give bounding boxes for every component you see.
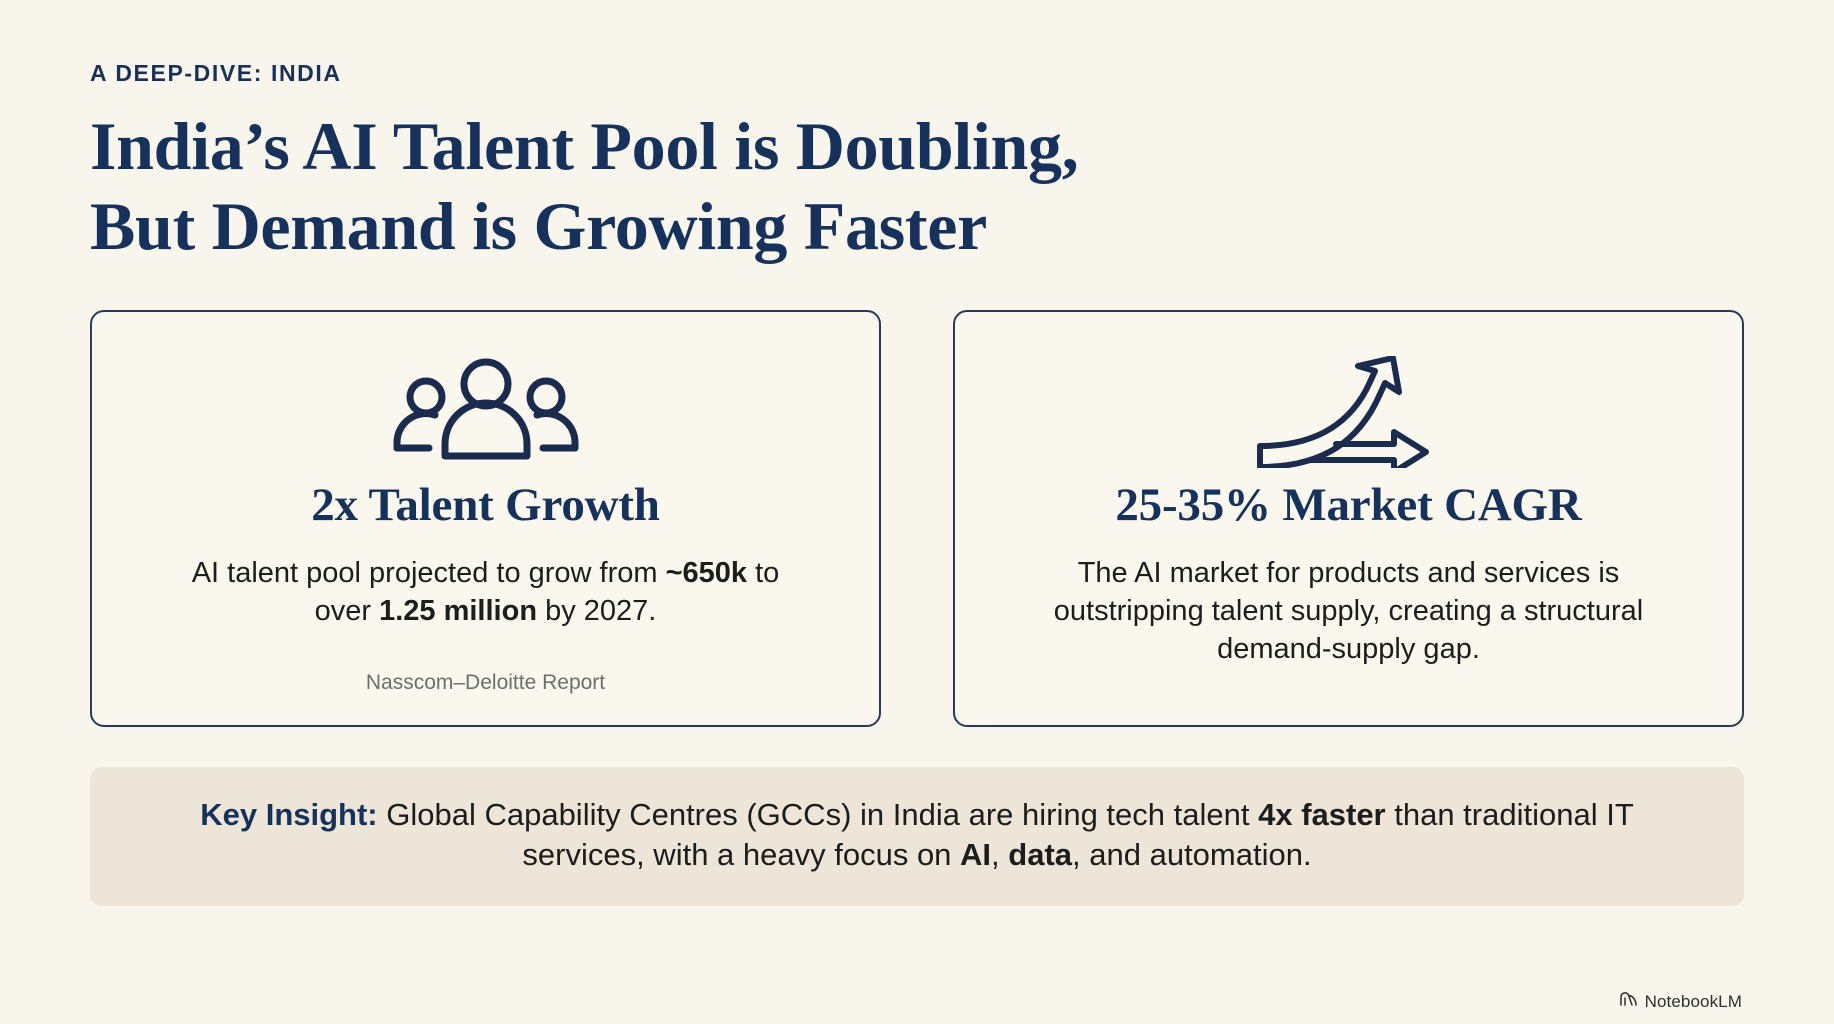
body-text-segment: AI talent pool projected to grow from: [192, 557, 666, 589]
stat-card-body: AI talent pool projected to grow from ~6…: [166, 554, 806, 631]
page-title: India’s AI Talent Pool is Doubling, But …: [90, 107, 1744, 266]
stat-card-source: Nasscom–Deloitte Report: [366, 645, 605, 695]
eyebrow-label: A DEEP-DIVE: INDIA: [90, 0, 1744, 85]
stat-card-talent-growth: 2x Talent Growth AI talent pool projecte…: [90, 310, 881, 726]
key-insight-label: Key Insight:: [200, 797, 377, 832]
stat-card-title: 25-35% Market CAGR: [1115, 480, 1581, 532]
diverging-growth-arrows-icon: [1254, 356, 1444, 468]
insight-highlight-2: AI: [960, 837, 991, 872]
stat-card-body: The AI market for products and services …: [1029, 554, 1669, 669]
stat-cards-row: 2x Talent Growth AI talent pool projecte…: [90, 310, 1744, 726]
body-highlight-2: 1.25 million: [379, 595, 537, 627]
key-insight-text: Key Insight: Global Capability Centres (…: [142, 795, 1692, 877]
infographic-page: A DEEP-DIVE: INDIA India’s AI Talent Poo…: [0, 0, 1834, 1024]
stat-card-market-cagr: 25-35% Market CAGR The AI market for pro…: [953, 310, 1744, 726]
body-text-segment: by 2027.: [537, 595, 656, 627]
insight-text-segment: , and automation.: [1072, 837, 1312, 872]
insight-highlight-3: data: [1008, 837, 1072, 872]
body-text-segment: The AI market for products and services …: [1054, 557, 1643, 666]
key-insight-banner: Key Insight: Global Capability Centres (…: [90, 767, 1744, 907]
headline-line-1: India’s AI Talent Pool is Doubling,: [90, 107, 1744, 187]
insight-highlight-1: 4x faster: [1258, 797, 1386, 832]
body-highlight-1: ~650k: [666, 557, 747, 589]
notebooklm-logo-icon: [1619, 991, 1638, 1012]
people-group-icon: [391, 356, 581, 468]
headline-line-2: But Demand is Growing Faster: [90, 187, 1744, 267]
notebooklm-watermark: NotebookLM: [1619, 991, 1742, 1012]
insight-text-segment: Global Capability Centres (GCCs) in Indi…: [378, 797, 1258, 832]
insight-text-segment: ,: [991, 837, 1008, 872]
stat-card-title: 2x Talent Growth: [311, 480, 660, 532]
notebooklm-label: NotebookLM: [1645, 992, 1742, 1012]
